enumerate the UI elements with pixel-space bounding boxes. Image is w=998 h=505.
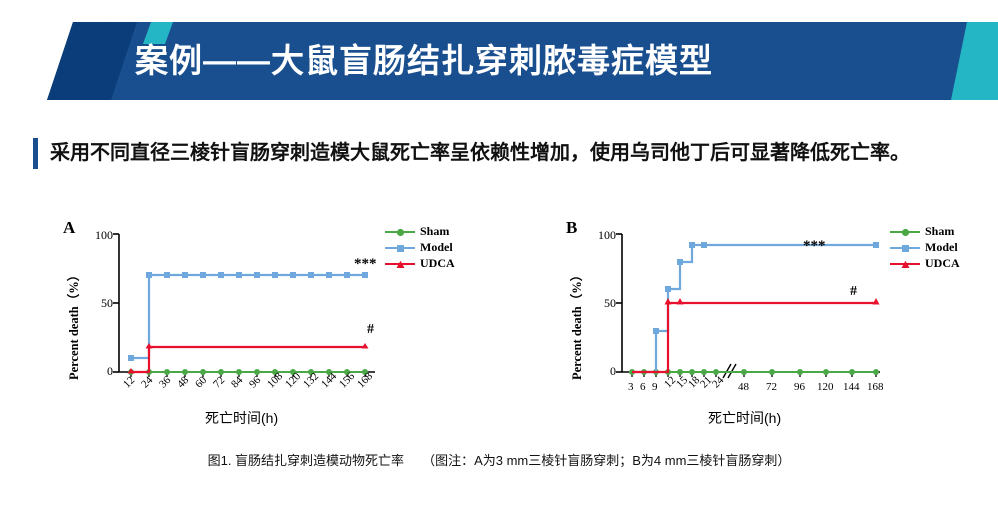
legend-marker-model-icon [890, 242, 920, 254]
figure-caption-main: 图1. 盲肠结扎穿刺造模动物死亡率 [208, 453, 404, 468]
figure-caption-note: （图注：A为3 mm三棱针盲肠穿刺；B为4 mm三棱针盲肠穿刺） [422, 453, 790, 468]
header-banner: 案例——大鼠盲肠结扎穿刺脓毒症模型 [0, 22, 998, 100]
panel-b-legend-label-sham: Sham [925, 224, 954, 239]
page-title: 案例——大鼠盲肠结扎穿刺脓毒症模型 [135, 38, 955, 84]
subtitle-text: 采用不同直径三棱针盲肠穿刺造模大鼠死亡率呈依赖性增加，使用乌司他丁后可显著降低死… [50, 138, 910, 169]
panel-a-legend-item-udca: UDCA [385, 256, 455, 271]
panel-b-xtick-1: 6 [640, 381, 646, 393]
panel-a-legend-item-sham: Sham [385, 224, 455, 239]
panel-a-annotation-1: # [367, 322, 374, 338]
panel-b-xtick-0: 3 [628, 381, 634, 393]
panel-b-legend-label-udca: UDCA [925, 256, 960, 271]
panel-b-xtick-13: 168 [867, 381, 884, 393]
panel-b-annotation-0: *** [803, 238, 826, 255]
panel-b-legend-label-model: Model [925, 240, 958, 255]
legend-marker-sham-icon [890, 226, 920, 238]
panel-b-xtick-10: 96 [794, 381, 805, 393]
panel-b-xtick-12: 144 [843, 381, 860, 393]
panel-a-legend: Sham Model UDCA [385, 224, 455, 272]
legend-marker-udca-icon [890, 258, 920, 270]
panel-a-annotation-0: *** [354, 256, 377, 273]
figure-caption: 图1. 盲肠结扎穿刺造模动物死亡率（图注：A为3 mm三棱针盲肠穿刺；B为4 m… [0, 450, 998, 469]
panel-b-legend-item-model: Model [890, 240, 960, 255]
panel-a-legend-label-udca: UDCA [420, 256, 455, 271]
panel-a-xlabel: 死亡时间(h) [205, 408, 278, 428]
legend-marker-sham-icon [385, 226, 415, 238]
panel-b-annotation-1: # [850, 284, 857, 300]
panel-a-legend-label-sham: Sham [420, 224, 449, 239]
panel-b-legend-item-sham: Sham [890, 224, 960, 239]
legend-marker-model-icon [385, 242, 415, 254]
subtitle-block: 采用不同直径三棱针盲肠穿刺造模大鼠死亡率呈依赖性增加，使用乌司他丁后可显著降低死… [33, 138, 973, 169]
panel-b-xtick-9: 72 [766, 381, 777, 393]
panel-b-xlabel: 死亡时间(h) [708, 408, 781, 428]
panel-a-legend-label-model: Model [420, 240, 453, 255]
panel-b-xtick-2: 9 [652, 381, 658, 393]
chart-panel-a: A Percent death（%） 100 50 0 [55, 212, 495, 427]
chart-panel-b: B Percent death（%） 100 50 0 [560, 212, 990, 427]
panel-b-xtick-8: 48 [738, 381, 749, 393]
panel-b-xtick-11: 120 [817, 381, 834, 393]
panel-a-legend-item-model: Model [385, 240, 455, 255]
legend-marker-udca-icon [385, 258, 415, 270]
subtitle-accent-bar [33, 138, 38, 169]
panel-b-legend: Sham Model UDCA [890, 224, 960, 272]
panel-b-legend-item-udca: UDCA [890, 256, 960, 271]
